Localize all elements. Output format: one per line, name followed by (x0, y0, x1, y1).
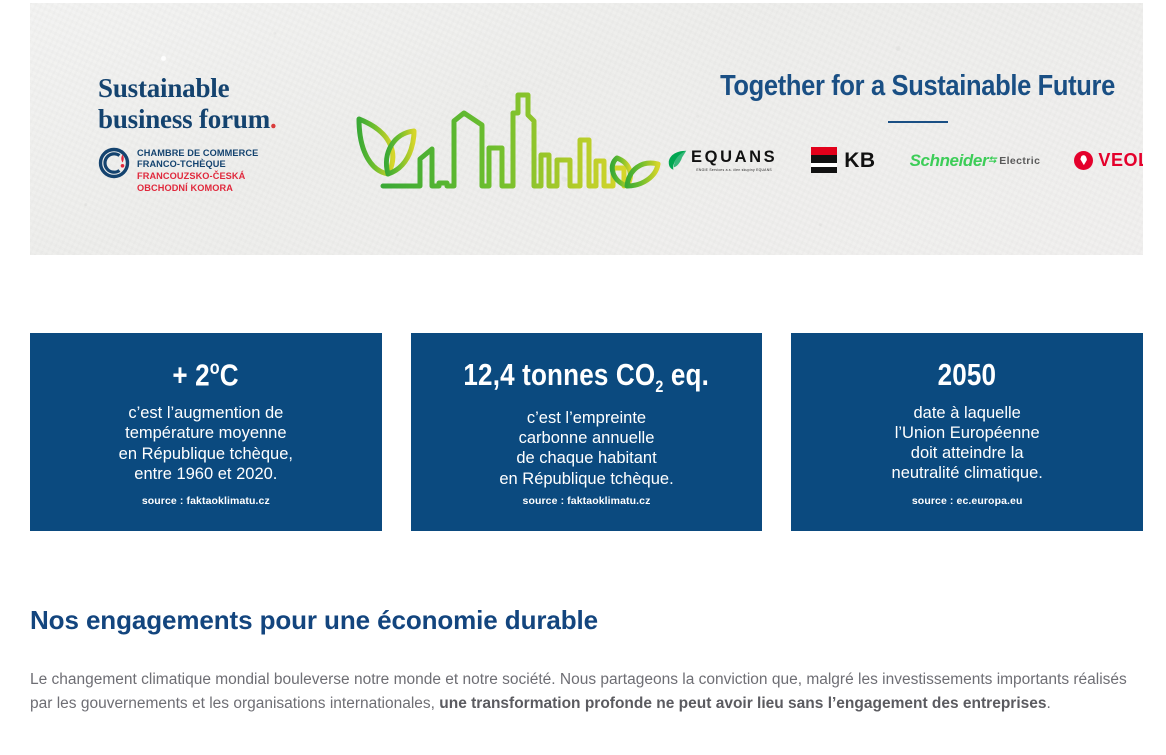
stat-card-body: c’est l’empreinte carbonne annuelle de c… (499, 408, 673, 489)
cci-logo-icon (98, 147, 130, 179)
page-root: Sustainable business forum. CHAMBRE DE C… (0, 0, 1166, 755)
banner-tagline: Together for a Sustainable Future (717, 71, 1117, 101)
stat-card: 12,4 tonnes CO2 eq. c’est l’empreinte ca… (411, 333, 763, 531)
forum-title: Sustainable business forum. (98, 73, 368, 136)
chamber-line-4: OBCHODNÍ KOMORA (137, 183, 258, 195)
forum-title-text: Sustainable business forum (98, 73, 270, 134)
schneider-logo-subtext: Electric (999, 156, 1040, 167)
climate-stat-cards: + 2oC c’est l’augmention de température … (30, 333, 1143, 531)
banner-divider-rule (888, 121, 948, 123)
partner-logo-row: EQUANS ENGIE Services a.s. člen skupiny … (690, 147, 1143, 173)
kb-logo-mark (811, 147, 837, 173)
stat-card-figure: + 2oC (173, 359, 239, 390)
chamber-of-commerce-block: CHAMBRE DE COMMERCE FRANCO-TCHÈQUE FRANC… (98, 147, 368, 195)
equans-logo-text: EQUANS (691, 149, 777, 166)
chamber-name-lines: CHAMBRE DE COMMERCE FRANCO-TCHÈQUE FRANC… (137, 147, 258, 195)
equans-logo-icon[interactable]: EQUANS ENGIE Services a.s. člen skupiny … (666, 148, 777, 172)
forum-title-dot: . (270, 104, 277, 134)
chamber-line-2: FRANCO-TCHÈQUE (137, 159, 258, 171)
kb-logo-icon[interactable]: KB (811, 147, 875, 173)
green-city-skyline-leaves-icon (342, 53, 672, 193)
intro-paragraph-tail: . (1047, 695, 1051, 712)
stat-card-body: c’est l’augmention de température moyenn… (119, 403, 293, 484)
commitments-section: Nos engagements pour une économie durabl… (30, 605, 1140, 715)
stat-card: + 2oC c’est l’augmention de température … (30, 333, 382, 531)
stat-card: 2050 date à laquelle l’Union Européenne … (791, 333, 1143, 531)
veolia-logo-icon[interactable]: VEOLIA (1074, 151, 1143, 170)
kb-logo-text: KB (844, 150, 875, 171)
forum-logo-lockup: Sustainable business forum. CHAMBRE DE C… (98, 73, 368, 195)
stat-card-source: source : faktaoklimatu.cz (523, 495, 651, 507)
schneider-electric-logo-icon[interactable]: Schneider ⮀ Electric (910, 152, 1041, 169)
chamber-line-1: CHAMBRE DE COMMERCE (137, 148, 258, 160)
page-title: Nos engagements pour une économie durabl… (30, 605, 1140, 636)
schneider-logo-glyph: ⮀ (988, 156, 996, 166)
schneider-logo-text: Schneider (910, 152, 989, 169)
stat-card-figure: 12,4 tonnes CO2 eq. (464, 359, 710, 395)
stat-card-body: date à laquelle l’Union Européenne doit … (892, 403, 1043, 484)
equans-logo-tagline: ENGIE Services a.s. člen skupiny EQUANS (691, 168, 777, 172)
chamber-line-3: FRANCOUZSKO-ČESKÁ (137, 171, 258, 183)
veolia-logo-text: VEOLIA (1098, 151, 1143, 169)
banner-right-block: Together for a Sustainable Future EQUANS… (690, 71, 1143, 173)
intro-paragraph: Le changement climatique mondial bouleve… (30, 668, 1140, 715)
stat-card-figure: 2050 (938, 359, 997, 390)
stat-card-source: source : ec.europa.eu (912, 495, 1023, 507)
stat-card-source: source : faktaoklimatu.cz (142, 495, 270, 507)
veolia-logo-mark (1074, 151, 1093, 170)
intro-paragraph-emphasis: une transformation profonde ne peut avoi… (439, 695, 1046, 712)
event-banner: Sustainable business forum. CHAMBRE DE C… (30, 3, 1143, 255)
